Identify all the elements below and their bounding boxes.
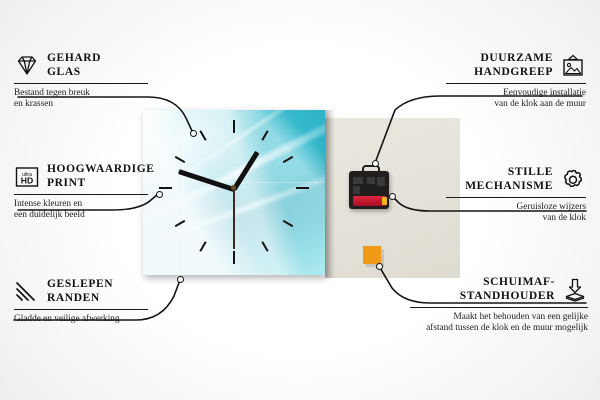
title-rule (446, 197, 586, 198)
press-down-icon (562, 278, 588, 302)
feature-desc-geslepen-randen: Gladde en veilige afwerking (14, 314, 164, 325)
feature-gehard-glas: GEHARD GLAS Bestand tegen breuk en krass… (14, 52, 154, 111)
feature-duurzame-handgreep: DUURZAME HANDGREEP Eenvoudige installati… (446, 52, 586, 111)
title-rule (446, 83, 586, 84)
title-rule (410, 307, 588, 308)
picture-frame-icon (560, 54, 586, 78)
feature-title-gehard-glas: GEHARD GLAS (47, 52, 101, 79)
connector-dot-stille-mechanisme (389, 193, 396, 200)
beveled-edges-icon (14, 280, 40, 304)
connector-dot-gehard-glas (190, 130, 197, 137)
diamond-icon (14, 54, 40, 78)
feature-desc-gehard-glas: Bestand tegen breuk en krassen (14, 88, 154, 111)
svg-text:HD: HD (21, 175, 33, 185)
connector-dot-schuimaf (376, 263, 383, 270)
title-rule (14, 309, 148, 310)
title-rule (14, 83, 148, 84)
feature-title-stille-mechanisme: STILLE MECHANISME (465, 166, 553, 193)
infographic-canvas: GEHARD GLAS Bestand tegen breuk en krass… (0, 0, 600, 400)
connector-dot-geslepen-randen (177, 276, 184, 283)
connector-dot-duurzame-handgreep (372, 160, 379, 167)
feature-desc-stille-mechanisme: Geruisloze wijzers van de klok (446, 202, 586, 225)
feature-stille-mechanisme: STILLE MECHANISME Geruisloze wijzers van… (446, 166, 586, 225)
feature-desc-duurzame-handgreep: Eenvoudige installatie van de klok aan d… (446, 88, 586, 111)
feature-geslepen-randen: GESLEPEN RANDEN Gladde en veilige afwerk… (14, 278, 164, 325)
title-rule (14, 194, 148, 195)
feature-desc-hoogwaardige-print: Intense kleuren en een duidelijk beeld (14, 199, 162, 222)
feature-desc-schuimaf-standhouder: Maakt het behouden van een gelijke afsta… (410, 312, 588, 335)
feature-title-duurzame-handgreep: DUURZAME HANDGREEP (474, 52, 553, 79)
feature-title-geslepen-randen: GESLEPEN RANDEN (47, 278, 113, 305)
feature-title-schuimaf-standhouder: SCHUIMAF- STANDHOUDER (460, 276, 555, 303)
feature-hoogwaardige-print: ultra HD HOOGWAARDIGE PRINT Intense kleu… (14, 163, 162, 222)
gear-icon (560, 168, 586, 192)
feature-schuimaf-standhouder: SCHUIMAF- STANDHOUDER Maakt het behouden… (410, 276, 588, 335)
ultra-hd-icon: ultra HD (14, 165, 40, 189)
feature-title-hoogwaardige-print: HOOGWAARDIGE PRINT (47, 163, 155, 190)
